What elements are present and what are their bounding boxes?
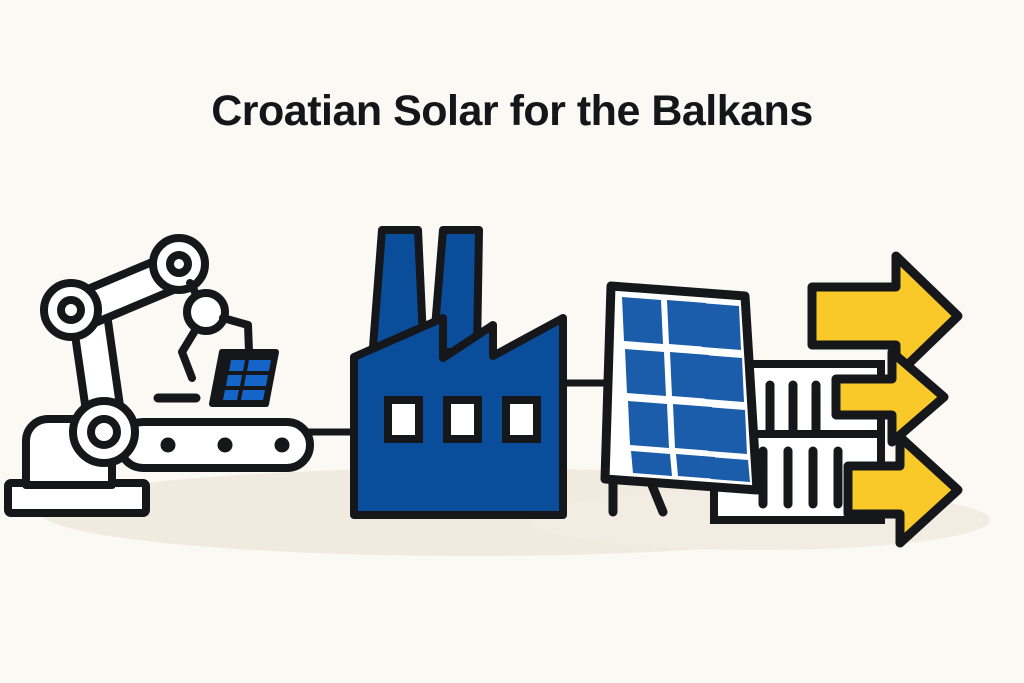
factory-windows bbox=[388, 400, 537, 439]
illustration-canvas: Croatian Solar for the Balkans bbox=[0, 0, 1024, 683]
station-factory bbox=[354, 230, 563, 515]
robot-wrist-link bbox=[187, 283, 225, 331]
robot-elbow-joint bbox=[44, 283, 98, 337]
station-solar-panel bbox=[605, 286, 757, 512]
solar-cell-chip bbox=[212, 352, 276, 404]
robot-shoulder-joint bbox=[73, 401, 135, 463]
scene-svg bbox=[0, 0, 1024, 683]
conveyor-belt bbox=[120, 422, 310, 468]
scene-illustration bbox=[0, 0, 1024, 683]
export-arrow-top bbox=[812, 256, 958, 376]
robot-wrist-joint bbox=[153, 238, 205, 290]
station-robot-assembly bbox=[8, 238, 310, 513]
